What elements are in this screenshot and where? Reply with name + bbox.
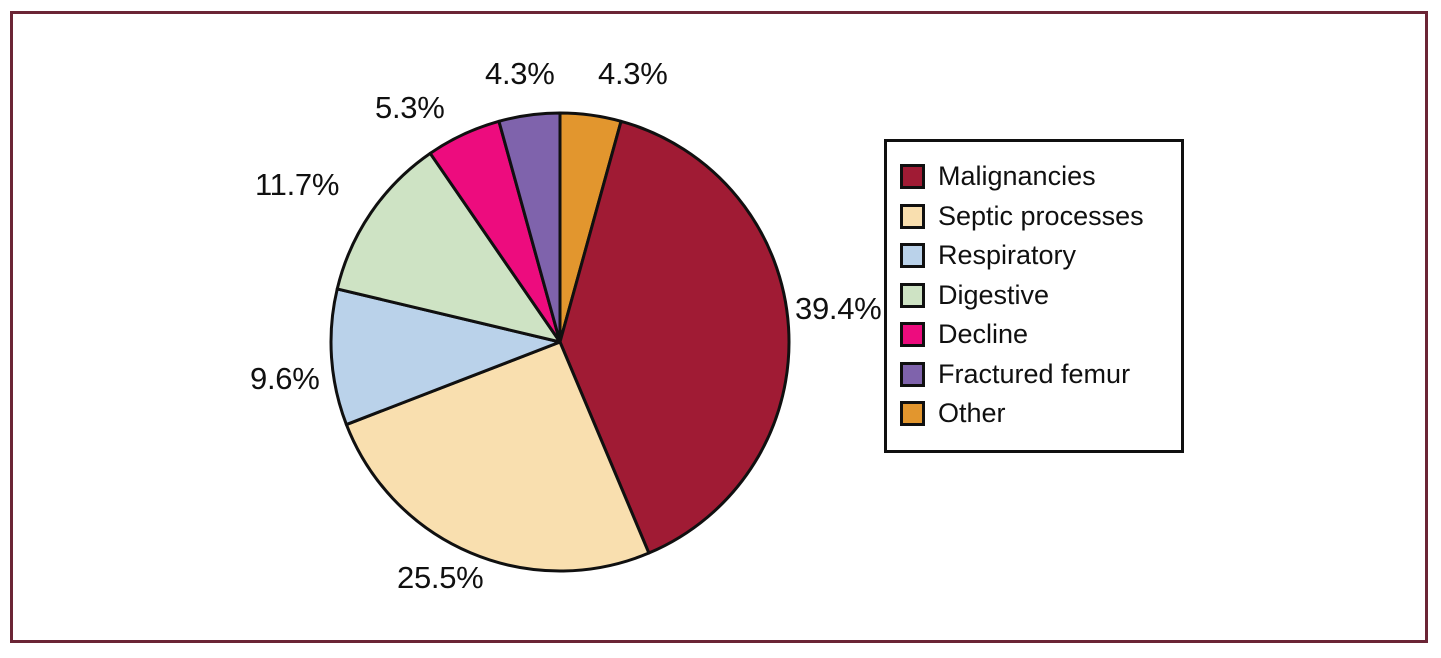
slice-label-fractured-femur: 4.3% bbox=[485, 58, 554, 89]
legend-item-label: Septic processes bbox=[938, 203, 1144, 230]
legend-swatch-icon bbox=[900, 164, 925, 189]
legend-swatch-icon bbox=[900, 283, 925, 308]
legend-item-septic-processes[interactable]: Septic processes bbox=[900, 197, 1181, 237]
legend-swatch-icon bbox=[900, 243, 925, 268]
pie-chart: 39.4% 25.5% 9.6% 11.7% 5.3% 4.3% 4.3% Ma… bbox=[0, 0, 1441, 658]
legend-swatch-icon bbox=[900, 401, 925, 426]
pie-slices bbox=[331, 113, 789, 571]
legend-item-fractured-femur[interactable]: Fractured femur bbox=[900, 355, 1181, 395]
slice-label-malignancies: 39.4% bbox=[795, 293, 881, 324]
legend-swatch-icon bbox=[900, 362, 925, 387]
slice-label-respiratory: 9.6% bbox=[250, 363, 319, 394]
legend-item-digestive[interactable]: Digestive bbox=[900, 276, 1181, 316]
legend-item-label: Digestive bbox=[938, 282, 1049, 309]
slice-label-septic-processes: 25.5% bbox=[397, 562, 483, 593]
figure-container: 39.4% 25.5% 9.6% 11.7% 5.3% 4.3% 4.3% Ma… bbox=[0, 0, 1441, 658]
legend: MalignanciesSeptic processesRespiratoryD… bbox=[884, 139, 1184, 453]
legend-swatch-icon bbox=[900, 204, 925, 229]
slice-label-decline: 5.3% bbox=[375, 92, 444, 123]
legend-item-malignancies[interactable]: Malignancies bbox=[900, 157, 1181, 197]
legend-item-other[interactable]: Other bbox=[900, 394, 1181, 434]
legend-swatch-icon bbox=[900, 322, 925, 347]
legend-item-label: Decline bbox=[938, 321, 1028, 348]
pie-svg bbox=[300, 90, 820, 600]
legend-item-label: Respiratory bbox=[938, 242, 1076, 269]
legend-item-label: Other bbox=[938, 400, 1006, 427]
slice-label-other: 4.3% bbox=[598, 58, 667, 89]
legend-item-respiratory[interactable]: Respiratory bbox=[900, 236, 1181, 276]
slice-label-digestive: 11.7% bbox=[255, 169, 339, 200]
legend-item-label: Malignancies bbox=[938, 163, 1096, 190]
legend-item-label: Fractured femur bbox=[938, 361, 1130, 388]
legend-item-decline[interactable]: Decline bbox=[900, 315, 1181, 355]
